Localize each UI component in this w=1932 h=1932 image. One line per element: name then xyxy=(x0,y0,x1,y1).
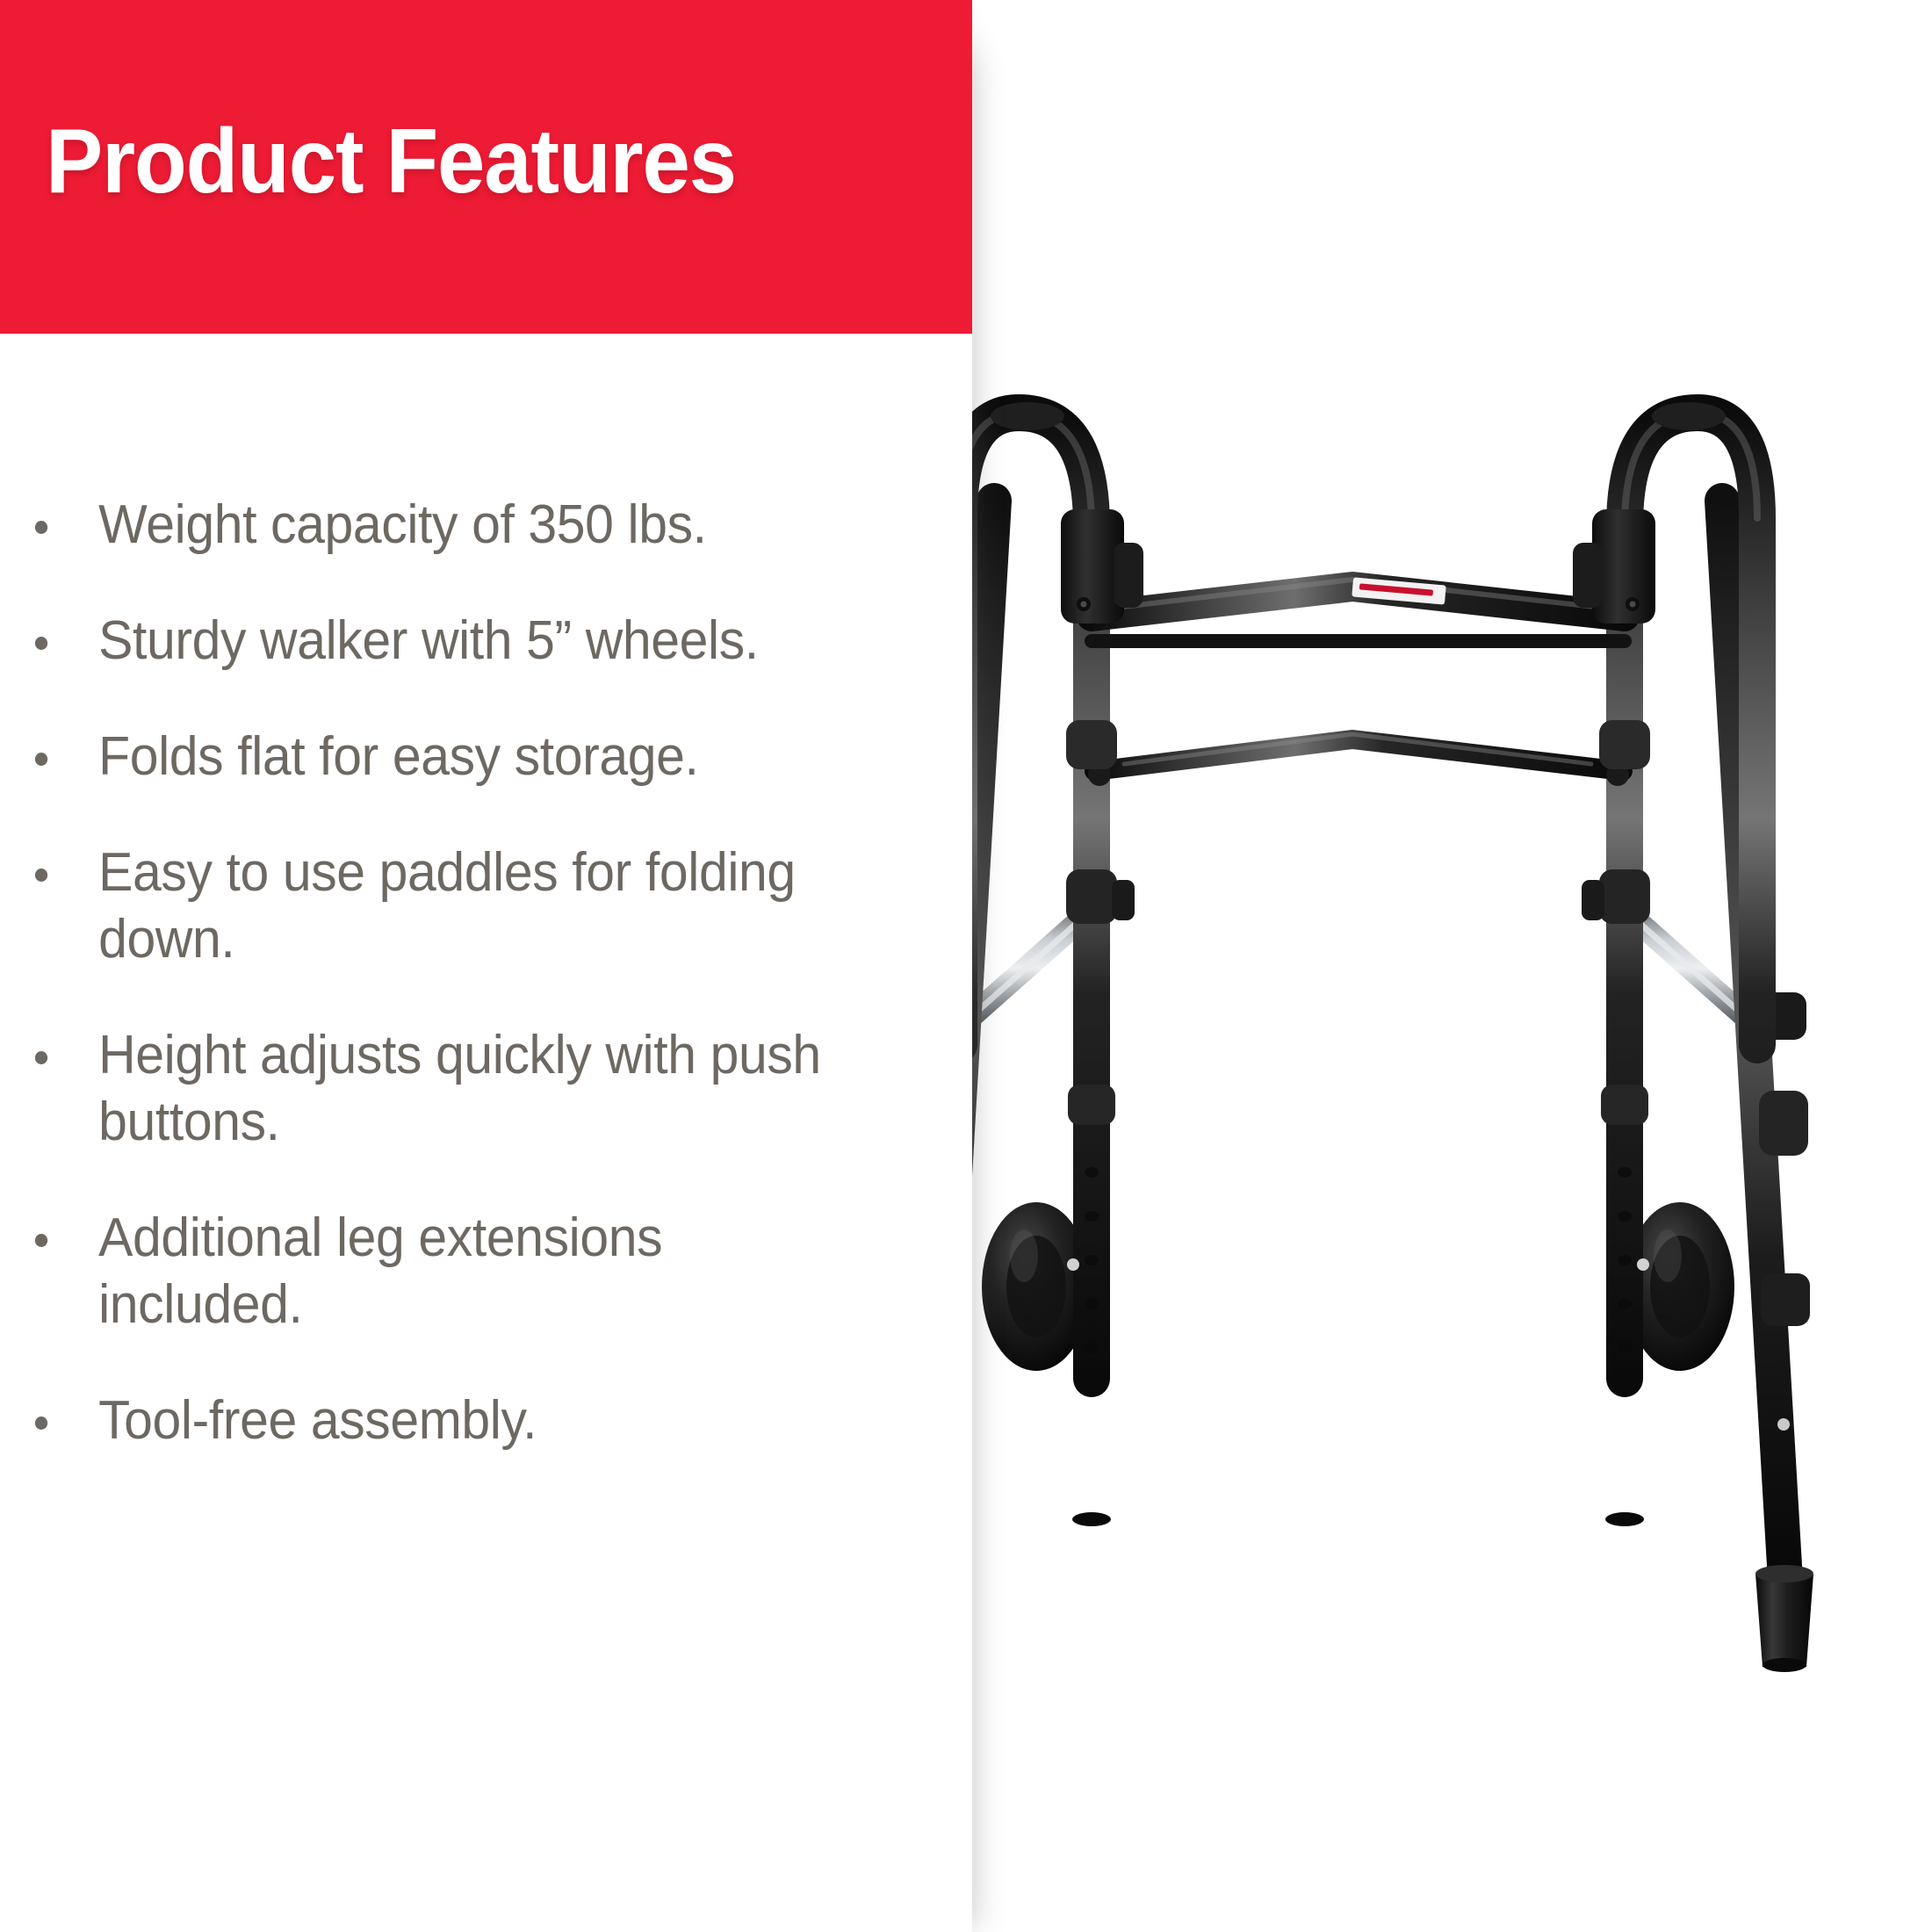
lower-crossbar xyxy=(1088,734,1629,786)
page-title: Product Features xyxy=(46,116,736,207)
header-band: Product Features xyxy=(0,0,972,334)
bullet-dot-icon xyxy=(35,1234,47,1247)
feature-list-item: Height adjusts quickly with push buttons… xyxy=(0,1022,876,1156)
feature-list-item: Easy to use paddles for folding down. xyxy=(0,840,876,973)
feature-list-item: Sturdy walker with 5” wheels. xyxy=(0,608,876,674)
product-features-list: Weight capacity of 350 lbs. Sturdy walke… xyxy=(0,492,922,1454)
page-canvas: Product Features Weight capacity of 350 … xyxy=(0,0,1932,1932)
feature-list-item: Folds flat for easy storage. xyxy=(0,724,876,790)
feature-text: Easy to use paddles for folding down. xyxy=(98,840,876,973)
bullet-dot-icon xyxy=(35,1417,47,1430)
feature-list-item: Weight capacity of 350 lbs. xyxy=(0,492,876,559)
feature-list-item: Additional leg extensions included. xyxy=(0,1205,876,1338)
folding-paddle-right xyxy=(1573,509,1655,624)
feature-text: Tool-free assembly. xyxy=(98,1388,876,1454)
feature-text: Additional leg extensions included. xyxy=(98,1205,876,1338)
bullet-dot-icon xyxy=(35,869,47,882)
feature-list-item: Tool-free assembly. xyxy=(0,1388,876,1454)
product-image-stage xyxy=(972,0,1932,1932)
foot-tip-right xyxy=(1755,1565,1813,1672)
feature-text: Sturdy walker with 5” wheels. xyxy=(98,608,876,674)
folding-paddle-left xyxy=(1061,509,1143,624)
bullet-dot-icon xyxy=(35,637,47,650)
bullet-dot-icon xyxy=(35,753,47,766)
bullet-dot-icon xyxy=(35,521,47,534)
feature-text: Height adjusts quickly with push buttons… xyxy=(98,1022,876,1156)
bullet-dot-icon xyxy=(35,1051,47,1064)
walker-product-illustration xyxy=(878,378,1838,1721)
feature-text: Weight capacity of 350 lbs. xyxy=(98,492,876,559)
feature-text: Folds flat for easy storage. xyxy=(98,724,876,790)
